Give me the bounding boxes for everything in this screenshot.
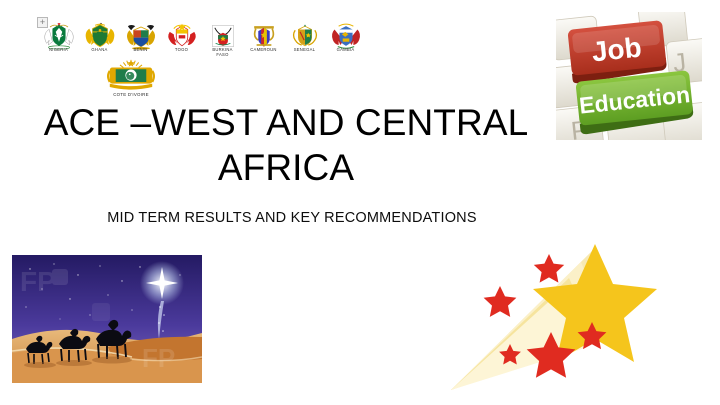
emblem-label: BENIN — [133, 48, 147, 53]
emblem-nigeria[interactable]: NIGERIA — [38, 22, 79, 53]
coat-of-arms-gambia-icon — [328, 22, 364, 50]
country-emblems-row-2: COTE D'IVOIRE — [101, 59, 368, 98]
emblem-benin[interactable]: BENIN — [120, 22, 161, 53]
coat-of-arms-senegal-icon — [287, 22, 323, 50]
emblem-label: GAMBIA — [337, 48, 355, 53]
coat-of-arms-cameroun-icon — [246, 22, 282, 50]
emblem-label: COTE D'IVOIRE — [113, 93, 149, 98]
title-placeholder[interactable]: ACE –WEST AND CENTRAL AFRICA — [22, 100, 550, 190]
emblem-burkina-faso[interactable]: BURKINA FASO — [202, 22, 243, 57]
emblem-cote-divoire[interactable]: COTE D'IVOIRE — [101, 59, 161, 98]
emblem-label: BURKINA FASO — [212, 48, 232, 57]
country-emblems-row-1: NIGERIA GHANA — [38, 22, 368, 57]
emblem-label: SENEGAL — [294, 48, 316, 53]
coat-of-arms-cote-divoire-icon — [103, 59, 159, 93]
emblem-cameroun[interactable]: CAMEROUN — [243, 22, 284, 53]
shooting-star-image[interactable] — [443, 244, 681, 396]
job-education-keyboard-image[interactable]: J P Job Education — [556, 12, 702, 140]
emblem-gambia[interactable]: GAMBIA — [325, 22, 366, 53]
emblem-label: TOGO — [175, 48, 188, 53]
emblem-label: CAMEROUN — [250, 48, 276, 53]
emblem-label: GHANA — [91, 48, 107, 53]
coat-of-arms-ghana-icon — [82, 22, 118, 50]
coat-of-arms-nigeria-icon — [41, 22, 77, 50]
subtitle-placeholder[interactable]: MID TERM RESULTS AND KEY RECOMMENDATIONS — [22, 210, 562, 227]
emblem-togo[interactable]: TOGO — [161, 22, 202, 53]
emblem-ghana[interactable]: GHANA — [79, 22, 120, 53]
three-wise-men-desert-image[interactable]: FP — [12, 255, 202, 383]
page-subtitle: MID TERM RESULTS AND KEY RECOMMENDATIONS — [22, 210, 562, 227]
emblem-senegal[interactable]: SENEGAL — [284, 22, 325, 53]
presentation-slide: + NIGERIA — [0, 0, 720, 405]
job-key-label: Job — [590, 31, 643, 67]
coat-of-arms-togo-icon — [164, 22, 200, 50]
coat-of-arms-benin-icon — [123, 22, 159, 50]
country-emblems-group[interactable]: NIGERIA GHANA — [38, 22, 368, 97]
coat-of-arms-burkina-faso-icon — [205, 22, 241, 50]
emblem-label: NIGERIA — [49, 48, 68, 53]
page-title: ACE –WEST AND CENTRAL AFRICA — [22, 100, 550, 190]
svg-text:FP: FP — [20, 266, 56, 297]
svg-text:FP: FP — [142, 343, 175, 373]
